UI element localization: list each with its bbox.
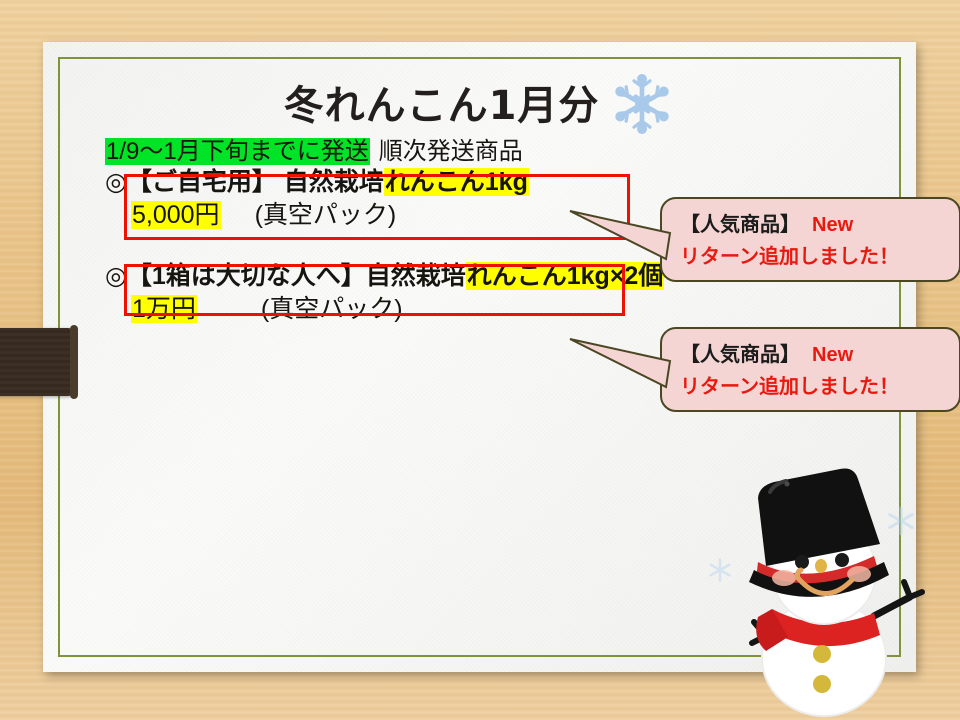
item-1-name-line: ◎【ご自宅用】 自然栽培れんこん1kg	[105, 168, 876, 198]
callout-2-new-badge: New	[812, 344, 853, 366]
callout-popular-1[interactable]: 【人気商品】New リターン追加しました！	[660, 197, 960, 282]
item-1-name-prefix: 【ご自宅用】 自然栽培	[127, 168, 384, 196]
page-title: 冬れんこん1月分	[284, 73, 600, 131]
callout-2-title-row: 【人気商品】New	[680, 338, 945, 367]
snowman-illustration	[714, 466, 928, 720]
snowman-button	[813, 675, 831, 693]
callout-popular-2[interactable]: 【人気商品】New リターン追加しました！	[660, 327, 960, 412]
decorative-ribbon-band	[0, 328, 74, 396]
callout-1-title-row: 【人気商品】New	[680, 208, 945, 237]
snowflake-icon	[609, 71, 675, 137]
shipping-line: 1/9〜1月下旬までに発送順次発送商品	[105, 138, 876, 166]
item-2-name-prefix: 【1箱は大切な人へ】自然栽培	[127, 262, 466, 290]
item-2-price-line: 1万円(真空パック)	[105, 295, 876, 325]
callout-tail-2	[570, 333, 670, 403]
callout-2-message: リターン追加しました！	[680, 370, 945, 399]
item-2-marker: ◎	[105, 262, 127, 290]
item-1-price: 5,000円	[131, 201, 221, 229]
item-1-marker: ◎	[105, 168, 127, 196]
item-2-price: 1万円	[131, 295, 197, 323]
shipping-period-highlight: 1/9〜1月下旬までに発送	[105, 138, 370, 165]
callout-tail-1	[570, 203, 670, 273]
item-1-name-highlight: れんこん1kg	[384, 168, 529, 196]
callout-1-label: 【人気商品】	[680, 214, 800, 236]
slide-title-row: 冬れんこん1月分	[43, 67, 916, 137]
shipping-note: 順次発送商品	[379, 138, 523, 165]
callout-2-label: 【人気商品】	[680, 344, 800, 366]
item-2-note: (真空パック)	[261, 295, 403, 323]
callout-1-message: リターン追加しました！	[680, 240, 945, 269]
item-1-note: (真空パック)	[255, 201, 397, 229]
snowman-button	[813, 645, 831, 663]
callout-1-new-badge: New	[812, 214, 853, 236]
